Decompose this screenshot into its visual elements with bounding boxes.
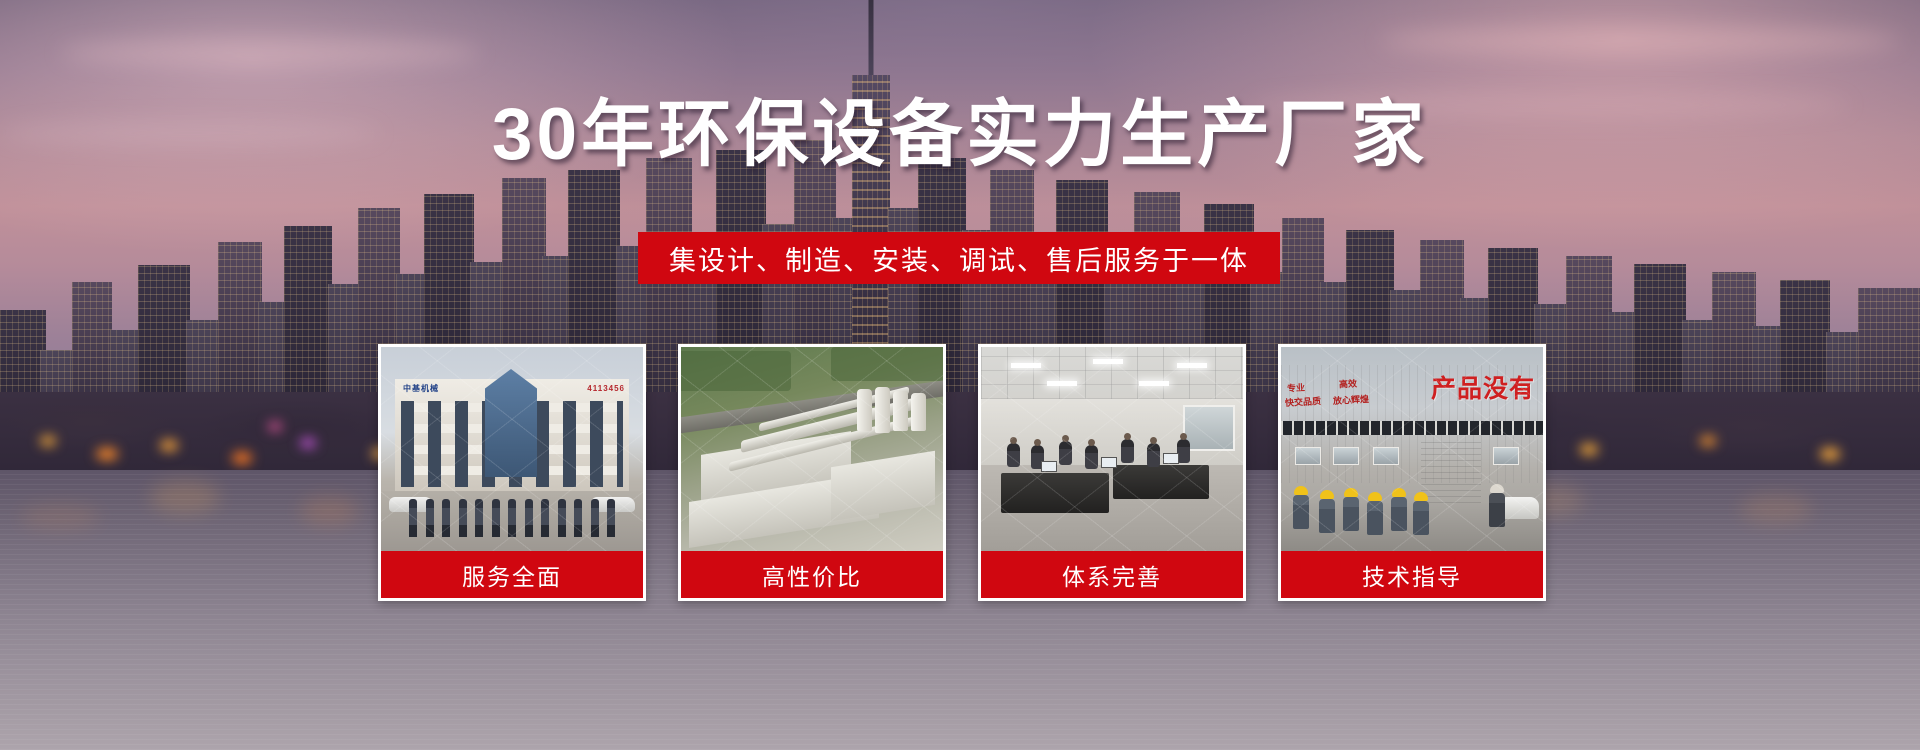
factory-wall-sign-text: 产品没有 xyxy=(1431,369,1535,405)
factory-workers-photo: 产品没有 专业 快交品质 高效 放心辉煌 xyxy=(1281,347,1543,551)
building-logo-text: 中基机械 xyxy=(403,383,439,394)
factory-slogan-2: 快交品质 xyxy=(1285,396,1322,408)
feature-card-list: 中基机械 4113456 服务全面 xyxy=(378,344,1546,601)
feature-card-caption: 体系完善 xyxy=(981,551,1243,598)
company-office-building-photo: 中基机械 4113456 xyxy=(381,347,643,551)
building-phone-text: 4113456 xyxy=(587,384,625,393)
feature-card-caption: 高性价比 xyxy=(681,551,943,598)
feature-card[interactable]: 中基机械 4113456 服务全面 xyxy=(378,344,646,601)
office-interior-staff-photo xyxy=(981,347,1243,551)
feature-card[interactable]: 体系完善 xyxy=(978,344,1246,601)
feature-card-caption: 服务全面 xyxy=(381,551,643,598)
feature-card[interactable]: 产品没有 专业 快交品质 高效 放心辉煌 xyxy=(1278,344,1546,601)
page-title: 30年环保设备实力生产厂家 xyxy=(0,98,1920,171)
factory-slogan-4: 放心辉煌 xyxy=(1333,394,1370,406)
subtitle-text: 集设计、制造、安装、调试、售后服务于一体 xyxy=(669,239,1249,278)
factory-slogan-3: 高效 xyxy=(1339,379,1358,390)
aerial-plant-facility-photo xyxy=(681,347,943,551)
hero-banner: 30年环保设备实力生产厂家 集设计、制造、安装、调试、售后服务于一体 中基机械 … xyxy=(0,0,1920,750)
feature-card[interactable]: 高性价比 xyxy=(678,344,946,601)
subtitle-banner: 集设计、制造、安装、调试、售后服务于一体 xyxy=(638,232,1280,284)
factory-slogan-1: 专业 xyxy=(1287,383,1306,394)
feature-card-caption: 技术指导 xyxy=(1281,551,1543,598)
